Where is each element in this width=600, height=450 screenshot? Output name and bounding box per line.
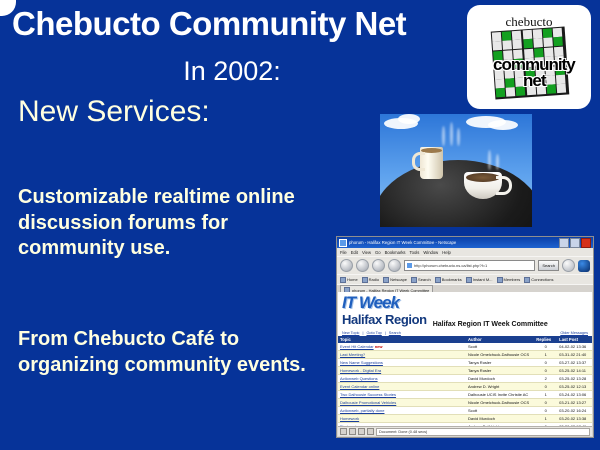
logo-grid-cell — [523, 39, 533, 49]
new-badge: new — [374, 344, 383, 349]
address-bar[interactable]: http://phorum.chebucto.ns.ca/list.php?f=… — [404, 260, 535, 271]
table-row: New Name SuggestionsTanya Rosler003-27-0… — [338, 358, 592, 366]
steam-wisp — [450, 122, 453, 146]
older-messages-link[interactable]: Older Messages — [560, 331, 588, 335]
cell-topic: Actionweb Questions — [338, 374, 466, 382]
menu-item-edit[interactable]: Edit — [351, 250, 358, 255]
table-surface — [378, 160, 534, 229]
browser-menu-bar[interactable]: FileEditViewGoBookmarksToolsWindowHelp — [337, 248, 593, 256]
cell-replies: 0 — [534, 358, 557, 366]
cell-last-post: 03-21-02 13:27 — [557, 398, 592, 406]
cell-topic: Event Hit Calendar new — [338, 343, 466, 351]
logo-grid-cell — [512, 31, 522, 41]
browser-title-bar: phorum - Halifax Region IT Week Committe… — [337, 237, 593, 248]
column-header-author: Author — [466, 336, 534, 343]
bookmark-icon — [340, 277, 346, 283]
cell-last-post: 03-27-02 13:37 — [557, 358, 592, 366]
forward-button-icon[interactable] — [356, 259, 369, 272]
topic-link[interactable]: Two Dalhousie Success Stories — [340, 392, 396, 397]
column-header-topic: Topic — [338, 336, 466, 343]
tall-mug — [420, 147, 443, 179]
page-heading: Halifax Region IT Week Committee — [433, 321, 548, 329]
bookmark-icon — [524, 277, 530, 283]
bookmark-icon — [411, 277, 417, 283]
bookmark-instant-m-[interactable]: Instant M... — [466, 277, 493, 283]
maximize-icon[interactable] — [570, 238, 580, 248]
logo-grid-cell — [492, 41, 502, 51]
bookmark-icon — [497, 277, 503, 283]
bookmark-icon — [435, 277, 441, 283]
steam-wisp — [496, 154, 499, 170]
window-controls — [559, 238, 591, 248]
logo-grid-cell — [513, 40, 523, 50]
cell-replies: 0 — [534, 343, 557, 351]
stop-button-icon[interactable] — [388, 259, 401, 272]
title-subline-year: In 2002: — [12, 56, 452, 87]
addressbook-status-icon[interactable] — [367, 428, 374, 435]
itweek-logo-top: IT Week — [342, 295, 427, 311]
topic-link[interactable]: Actionweb Questions — [340, 376, 378, 381]
topic-link[interactable]: New Name Suggestions — [340, 360, 383, 365]
cell-author: David Murdoch — [466, 374, 534, 382]
bullet-text-cafe: From Chebucto Café to organizing communi… — [18, 327, 318, 378]
itweek-logo: IT Week Halifax Region — [342, 295, 427, 329]
cell-last-post: 03-24-02 13:06 — [557, 390, 592, 398]
cloud-shape — [488, 120, 518, 130]
logo-word-chebucto: chebucto — [467, 14, 591, 30]
logo-wordmark: community net — [493, 57, 589, 89]
bookmark-connections[interactable]: Connections — [524, 277, 553, 283]
table-row: Event Calendar onlineAndrew D. Wright003… — [338, 382, 592, 390]
cell-author: Andrew D. Wright — [466, 382, 534, 390]
browser-page-content: IT Week Halifax Region Halifax Region IT… — [338, 292, 592, 427]
menu-item-go[interactable]: Go — [375, 250, 381, 255]
cell-last-post: 03-20-02 13:38 — [557, 414, 592, 422]
topic-link[interactable]: Homework — [340, 416, 359, 421]
logo-grid-cell — [543, 38, 553, 48]
browser-navigation-toolbar: http://phorum.chebucto.ns.ca/list.php?f=… — [337, 256, 593, 274]
itweek-header: IT Week Halifax Region Halifax Region IT… — [338, 292, 592, 329]
cell-topic: Actionweb, partially done — [338, 406, 466, 414]
cell-author: Nicole Omelchuck-Dalhousie OCS — [466, 350, 534, 358]
bookmark-icon — [383, 277, 389, 283]
cell-last-post: 03-25-02 13:28 — [557, 374, 592, 382]
itweek-logo-bottom: Halifax Region — [342, 313, 427, 326]
logo-grid-cell — [532, 29, 542, 39]
address-bar-value: http://phorum.chebucto.ns.ca/list.php?f=… — [414, 263, 487, 268]
cell-author: Nicole Omelchuck-Dalhousie OCS — [466, 398, 534, 406]
cell-last-post: 04-02-02 13:36 — [557, 343, 592, 351]
search-button[interactable]: Search — [538, 260, 559, 271]
page-title: Chebucto Community Net — [12, 6, 472, 42]
composer-status-icon[interactable] — [358, 428, 365, 435]
cell-topic: New Name Suggestions — [338, 358, 466, 366]
coffee-cup — [464, 172, 502, 199]
netscape-browser-window: phorum - Halifax Region IT Week Committe… — [336, 236, 594, 438]
mug-coffee-surface — [421, 148, 442, 153]
coffee-photo — [378, 112, 534, 229]
cell-replies: 1 — [534, 390, 557, 398]
link-search[interactable]: Search — [389, 331, 401, 335]
menu-item-file[interactable]: File — [340, 250, 347, 255]
minimize-icon[interactable] — [559, 238, 569, 248]
cell-author: Scott — [466, 343, 534, 351]
link-new-topic[interactable]: New Topic — [342, 331, 359, 335]
link-separator: | — [362, 331, 363, 335]
link-goto-top[interactable]: Goto Top — [366, 331, 381, 335]
cell-replies: 0 — [534, 398, 557, 406]
logo-grid-cell — [553, 37, 563, 47]
table-row: Actionweb QuestionsDavid Murdoch203-25-0… — [338, 374, 592, 382]
bookmark-members[interactable]: Members — [497, 277, 521, 283]
mail-status-icon[interactable] — [349, 428, 356, 435]
close-icon[interactable] — [581, 238, 591, 248]
chebucto-logo: chebucto community net — [467, 5, 591, 109]
offline-status-icon[interactable] — [340, 428, 347, 435]
bullet-text-forums: Customizable realtime online discussion … — [18, 185, 318, 262]
bookmark-icon — [466, 277, 472, 283]
cell-author: Tanya Rosler — [466, 366, 534, 374]
cell-topic: Event Calendar online — [338, 382, 466, 390]
logo-grid-cell — [533, 38, 543, 48]
back-button-icon[interactable] — [340, 259, 353, 272]
topic-link[interactable]: Actionweb, partially done — [340, 408, 384, 413]
bookmark-label: Netscape — [390, 277, 407, 282]
table-row: Two Dalhousie Success StoriesDalhousie U… — [338, 390, 592, 398]
menu-item-tools[interactable]: Tools — [410, 250, 420, 255]
cell-topic: Dalhousie Promotional Vehicles — [338, 398, 466, 406]
bookmark-label: Connections — [531, 277, 553, 282]
topic-link[interactable]: Dalhousie Promotional Vehicles — [340, 400, 396, 405]
table-row: Event Hit Calendar newScott004-02-02 13:… — [338, 343, 592, 351]
topic-link[interactable]: Homework - Digital Era — [340, 368, 381, 373]
page-favicon — [407, 263, 412, 268]
logo-word-net: net — [523, 73, 589, 89]
cell-last-post: 03-25-02 12:13 — [557, 382, 592, 390]
bookmark-icon — [362, 277, 368, 283]
cell-replies: 0 — [534, 406, 557, 414]
logo-grid-cell — [502, 31, 512, 41]
bookmark-radio[interactable]: Radio — [362, 277, 379, 283]
logo-grid-cell — [553, 28, 563, 38]
cell-replies: 2 — [534, 374, 557, 382]
table-row: HomeworkDavid Murdoch103-20-02 13:38 — [338, 414, 592, 422]
bookmark-label: Instant M... — [473, 277, 493, 282]
netscape-logo-icon[interactable] — [578, 260, 590, 272]
forum-action-links[interactable]: New Topic|Goto Top|Search — [342, 331, 401, 335]
table-row: Actionweb, partially doneScott003-20-02 … — [338, 406, 592, 414]
column-header-replies: Replies — [534, 336, 557, 343]
cell-replies: 1 — [534, 350, 557, 358]
browser-status-bar: Document: Done (0.48 secs) — [338, 426, 592, 436]
bookmark-search[interactable]: Search — [411, 277, 431, 283]
column-header-last-post: Last Post — [557, 336, 592, 343]
topic-link[interactable]: Last Meeting? — [340, 352, 365, 357]
menu-item-window[interactable]: Window — [423, 250, 438, 255]
table-header-row: TopicAuthorRepliesLast Post — [338, 336, 592, 343]
bookmark-bookmarks[interactable]: Bookmarks — [435, 277, 462, 283]
itweek-header-row: IT Week Halifax Region Halifax Region IT… — [342, 295, 588, 329]
cell-last-post: 03-25-02 14:11 — [557, 366, 592, 374]
bookmark-label: Bookmarks — [442, 277, 462, 282]
steam-wisp — [442, 126, 445, 146]
print-button-icon[interactable] — [562, 259, 575, 272]
logo-grid-cell — [503, 41, 513, 51]
cell-author: Scott — [466, 406, 534, 414]
steam-wisp — [488, 150, 491, 170]
forum-topic-table: TopicAuthorRepliesLast Post Event Hit Ca… — [338, 336, 592, 427]
link-separator: | — [385, 331, 386, 335]
menu-item-bookmarks[interactable]: Bookmarks — [385, 250, 406, 255]
cell-replies: 1 — [534, 414, 557, 422]
bookmark-home[interactable]: Home — [340, 277, 358, 283]
reload-button-icon[interactable] — [372, 259, 385, 272]
table-row: Dalhousie Promotional VehiclesNicole Ome… — [338, 398, 592, 406]
cell-last-post: 03-31-02 21:40 — [557, 350, 592, 358]
logo-grid-cell — [496, 88, 506, 98]
topic-link[interactable]: Event Calendar online — [340, 384, 379, 389]
cell-topic: Two Dalhousie Success Stories — [338, 390, 466, 398]
bookmark-label: Search — [418, 277, 431, 282]
cell-author: Dalhousie UCIS Invite Christie AC — [466, 390, 534, 398]
bookmark-label: Radio — [369, 277, 379, 282]
title-new-services: New Services: — [18, 95, 418, 129]
logo-grid-cell — [522, 30, 532, 40]
cell-replies: 0 — [534, 366, 557, 374]
logo-grid-cell — [492, 32, 502, 42]
status-message: Document: Done (0.48 secs) — [376, 428, 590, 436]
cell-author: Tanya Rosler — [466, 358, 534, 366]
table-row: Last Meeting?Nicole Omelchuck-Dalhousie … — [338, 350, 592, 358]
cell-author: David Murdoch — [466, 414, 534, 422]
cloud-shape — [398, 114, 420, 124]
cell-last-post: 03-20-02 16:24 — [557, 406, 592, 414]
bookmark-label: Members — [504, 277, 521, 282]
netscape-app-icon — [339, 239, 347, 247]
cup-coffee-surface — [466, 173, 500, 182]
personal-bookmarks-toolbar[interactable]: HomeRadioNetscapeSearchBookmarksInstant … — [337, 274, 593, 284]
cell-topic: Last Meeting? — [338, 350, 466, 358]
bookmark-netscape[interactable]: Netscape — [383, 277, 407, 283]
steam-wisp — [457, 128, 460, 146]
cell-topic: Homework — [338, 414, 466, 422]
table-row: Homework - Digital EraTanya Rosler003-25… — [338, 366, 592, 374]
topic-link[interactable]: Event Hit Calendar — [340, 344, 374, 349]
presentation-slide: Chebucto Community Net In 2002: New Serv… — [0, 0, 600, 450]
table-body: Event Hit Calendar newScott004-02-02 13:… — [338, 343, 592, 427]
cell-replies: 0 — [534, 382, 557, 390]
menu-item-view[interactable]: View — [362, 250, 371, 255]
logo-grid-cell — [543, 28, 553, 38]
forum-top-links: New Topic|Goto Top|Search Older Messages — [338, 329, 592, 336]
menu-item-help[interactable]: Help — [442, 250, 451, 255]
browser-window-title: phorum - Halifax Region IT Week Committe… — [349, 240, 559, 245]
cell-topic: Homework - Digital Era — [338, 366, 466, 374]
bookmark-label: Home — [347, 277, 358, 282]
